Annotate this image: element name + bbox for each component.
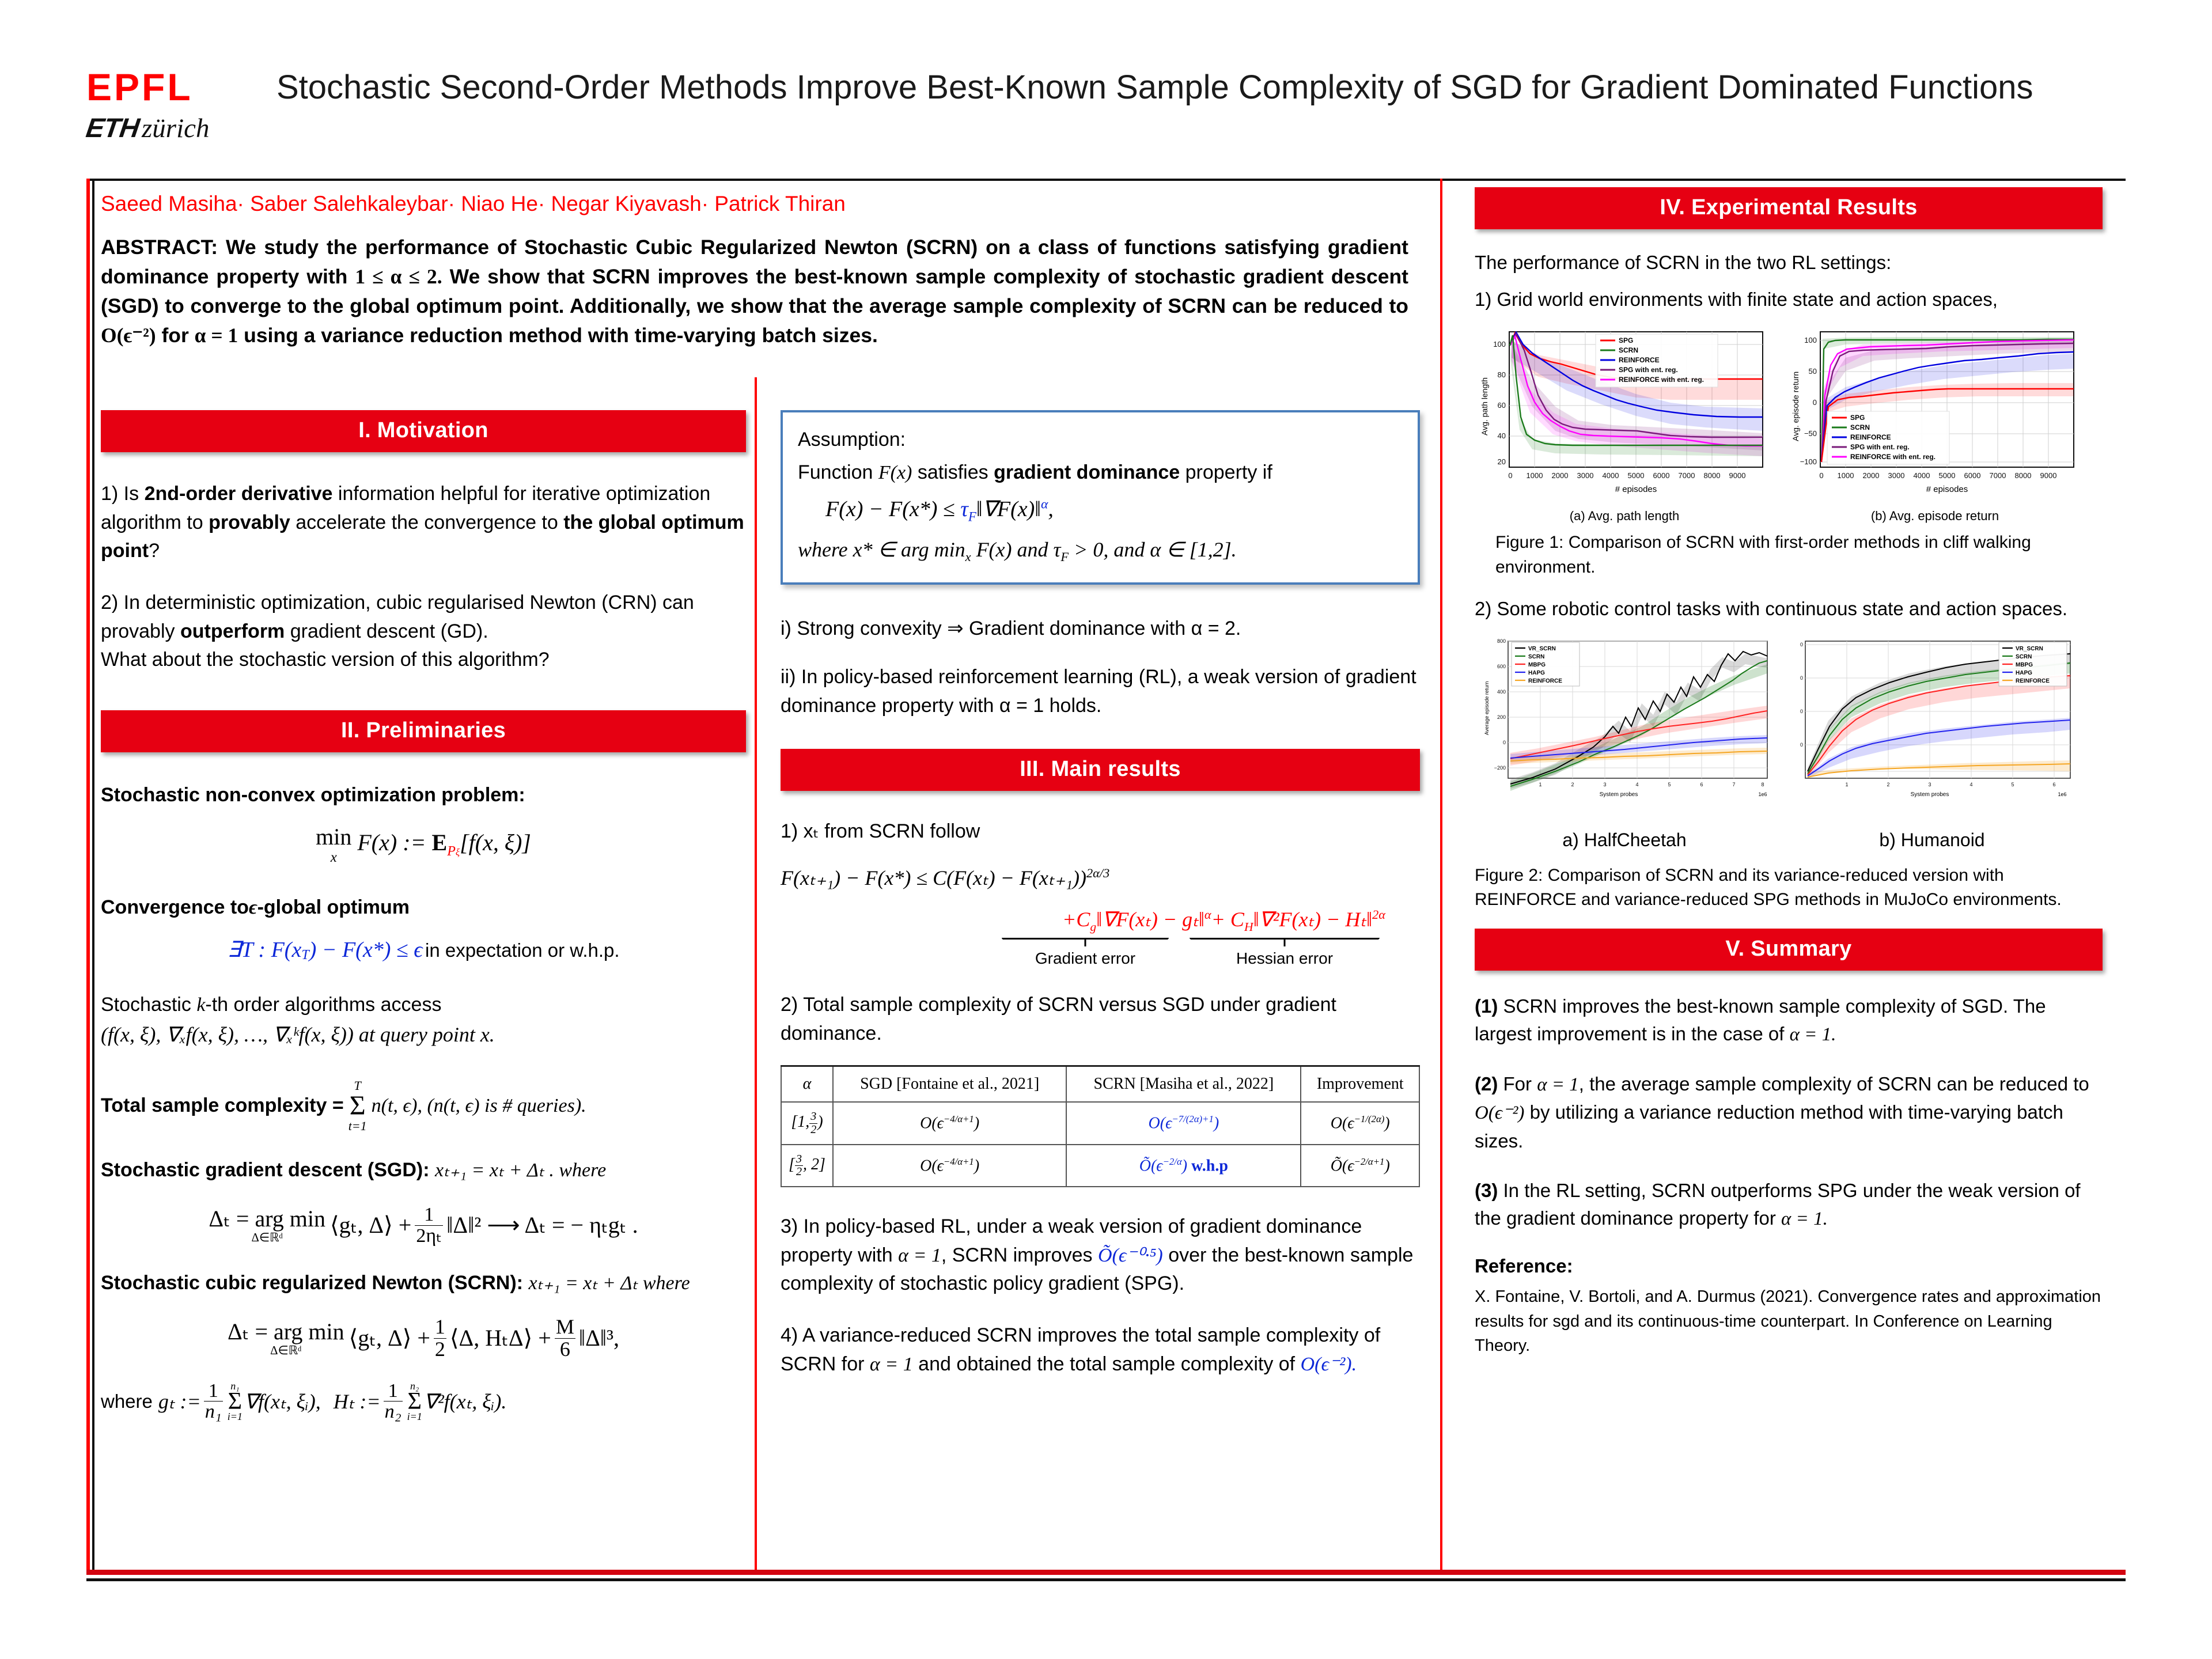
svg-text:REINFORCE: REINFORCE xyxy=(2016,678,2050,684)
cell-improvement-2: Õ(ϵ−2/α+1) xyxy=(1301,1145,1419,1187)
assumption-eq-tau: τ xyxy=(960,497,968,521)
svg-text:0: 0 xyxy=(1813,398,1817,407)
eq-expectation-body: [f(x, ξ)] xyxy=(460,829,531,855)
summary-2-c: by utilizing a variance reduction method… xyxy=(1475,1101,2063,1151)
left-border-rule-2 xyxy=(92,179,94,1573)
main-result-item-2: 2) Total sample complexity of SCRN versu… xyxy=(781,991,1420,1048)
svg-text:3000: 3000 xyxy=(1577,471,1594,480)
assumption-title: Assumption: xyxy=(798,425,1403,454)
err-CH-sub: H xyxy=(1244,920,1253,934)
scrn-frac2-num: M xyxy=(555,1316,575,1339)
scrn-delta-cubic: ‖Δ‖³, xyxy=(579,1325,619,1351)
prelim-scrn-line: Stochastic cubic regularized Newton (SCR… xyxy=(101,1269,746,1298)
scrn2-exp: −2/α xyxy=(1163,1156,1182,1167)
scrn-frac1-den: 2 xyxy=(434,1339,446,1361)
svg-text:MBPG: MBPG xyxy=(1528,662,1546,668)
sgd-frac-denominator: 2ηₜ xyxy=(415,1226,443,1247)
fig2b-plot-area: VR_SCRN SCRN MBPG HAPG REINFORCE 00 xyxy=(1800,641,2070,798)
svg-text:0: 0 xyxy=(1800,742,1803,748)
equation-main-result: F(xₜ₊₁) − F(x*) ≤ C(F(xₜ) − F(xₜ₊₁))2α/3 xyxy=(781,866,1420,890)
svg-text:1: 1 xyxy=(1539,782,1541,787)
svg-text:MBPG: MBPG xyxy=(2016,662,2033,668)
fig1b-legend: SPG SCRN REINFORCE SPG with ent. reg. RE… xyxy=(1827,411,1949,464)
estimator-g-frac-den: n₁ xyxy=(204,1402,223,1422)
estimator-H-sum-bot: i=1 xyxy=(407,1411,422,1423)
svg-text:600: 600 xyxy=(1497,664,1506,669)
svg-text:1000: 1000 xyxy=(1527,471,1543,480)
hessian-error-brace: Hessian error xyxy=(1190,938,1380,968)
zurich-logo: zürich xyxy=(142,113,210,144)
experimental-setting-1: 1) Grid world environments with finite s… xyxy=(1475,286,2103,313)
item3-math: Õ(ϵ⁻⁰·⁵) xyxy=(1098,1245,1163,1266)
eq-conv-part-1: ∃T : F(x xyxy=(227,938,301,962)
equation-min-F: min x F(x) := EPξ[f(x, ξ)] xyxy=(101,824,746,865)
svg-text:9000: 9000 xyxy=(1729,471,1746,480)
svg-text:40: 40 xyxy=(1498,431,1506,440)
imp2-a: Õ(ϵ xyxy=(1331,1157,1354,1175)
assumption-eq-alpha: α xyxy=(1041,497,1048,512)
table-row: [32, 2] O(ϵ−4/α+1) Õ(ϵ−2/α) w.h.p Õ(ϵ−2/… xyxy=(781,1145,1419,1187)
sgd1-exp: −4/α+1 xyxy=(944,1113,974,1124)
motivation-1-mid-2: accelerate the convergence to xyxy=(296,512,558,533)
th-sgd: SGD [Fontaine et al., 2021] xyxy=(833,1066,1066,1103)
section-header-main-results: III. Main results xyxy=(781,749,1420,791)
abstract-text: ABSTRACT: We study the performance of St… xyxy=(101,233,1408,350)
svg-text:HAPG: HAPG xyxy=(2016,670,2032,676)
scrn2-a: Õ(ϵ xyxy=(1139,1157,1163,1175)
summary-3-num: (3) xyxy=(1475,1180,1498,1201)
th-improvement: Improvement xyxy=(1301,1066,1419,1103)
assumption-eq-comma: , xyxy=(1048,497,1054,521)
svg-text:2: 2 xyxy=(1571,782,1574,787)
svg-text:3: 3 xyxy=(1928,782,1931,787)
fig2a-plot-area: VR_SCRN SCRN MBPG HAPG REINFORCE 8006004… xyxy=(1484,638,1767,798)
total-complexity-label: Total sample complexity = xyxy=(101,1092,344,1120)
summary-3-math: α = 1. xyxy=(1781,1209,1828,1229)
scrn-delta-argmin: Δₜ = arg min xyxy=(228,1319,344,1344)
svg-text:5000: 5000 xyxy=(1628,471,1645,480)
svg-text:SCRN: SCRN xyxy=(2016,654,2032,660)
fig2a-x-ticks: 123 456 78 xyxy=(1539,782,1764,787)
fig2a-y-ticks: 800600400 2000−200 xyxy=(1494,638,1506,771)
svg-text:1000: 1000 xyxy=(1838,471,1854,480)
svg-text:4000: 4000 xyxy=(1603,471,1619,480)
figure-1: SPG SCRN REINFORCE SPG with ent. reg. RE… xyxy=(1475,326,2103,524)
svg-text:REINFORCE: REINFORCE xyxy=(1528,678,1562,684)
estimator-H-lhs: Hₜ := xyxy=(334,1389,381,1414)
chart-fig1b: SPG SCRN REINFORCE SPG with ent. reg. RE… xyxy=(1782,326,2088,524)
abstract-math-3: α = 1 xyxy=(195,324,238,347)
estimator-g-sigma-icon: Σ xyxy=(228,1392,243,1411)
assumption-line3-a: where x* ∈ arg min xyxy=(798,538,965,561)
scrn-label: Stochastic cubic regularized Newton (SCR… xyxy=(101,1272,523,1294)
section-header-experimental: IV. Experimental Results xyxy=(1475,187,2103,229)
fig1b-x-ticks: 010002000 300040005000 600070008000 9000 xyxy=(1819,471,2056,480)
section-header-preliminaries: II. Preliminaries xyxy=(101,710,746,752)
fig2b-legend: VR_SCRN SCRN MBPG HAPG REINFORCE xyxy=(1999,642,2067,686)
fig2a-x-scale: 1e6 xyxy=(1758,791,1767,797)
svg-text:REINFORCE: REINFORCE xyxy=(1619,356,1660,364)
motivation-item-2: 2) In deterministic optimization, cubic … xyxy=(101,589,746,675)
eq-conv-part-2: ) − F(x*) ≤ ϵ xyxy=(309,938,423,962)
summary-2-math-1: α = 1 xyxy=(1537,1074,1579,1095)
figure-1-caption: Figure 1: Comparison of SCRN with first-… xyxy=(1495,531,2048,579)
svg-text:REINFORCE with ent. reg.: REINFORCE with ent. reg. xyxy=(1619,376,1704,384)
section-header-summary: V. Summary xyxy=(1475,929,2103,971)
err-grad-exp: α xyxy=(1205,907,1211,922)
fig2b-y-ticks: 00 00 xyxy=(1800,642,1803,748)
svg-text:7000: 7000 xyxy=(1679,471,1695,480)
motivation-1-bold-2: provably xyxy=(209,512,290,533)
scrn1-a: O(ϵ xyxy=(1149,1115,1172,1132)
estimator-g-lhs: gₜ := xyxy=(158,1389,201,1414)
fig2b-xlabel: System probes xyxy=(1911,791,1949,798)
cell-scrn-1: O(ϵ−7/(2α)+1) xyxy=(1066,1102,1301,1144)
fig2b-x-scale: 1e6 xyxy=(2058,791,2066,797)
svg-text:0: 0 xyxy=(1508,471,1512,480)
column-left: I. Motivation 1) Is 2nd-order derivative… xyxy=(101,410,746,1423)
svg-text:4: 4 xyxy=(1635,782,1638,787)
svg-text:7: 7 xyxy=(1732,782,1735,787)
err-hess-norm: ‖∇²F(xₜ) − Hₜ‖ xyxy=(1253,908,1373,931)
svg-text:6000: 6000 xyxy=(1964,471,1981,480)
scrn1-exp: −7/(2α)+1 xyxy=(1172,1113,1213,1124)
estimators-where-label: where xyxy=(101,1391,153,1412)
eq-min-op: min xyxy=(316,824,351,850)
abstract-block: Saeed Masiha· Saber Salehkaleybar· Niao … xyxy=(101,190,1408,351)
sgd-label: Stochastic gradient descent (SGD): xyxy=(101,1159,430,1181)
prelim-sgd-line: Stochastic gradient descent (SGD): xₜ₊₁ … xyxy=(101,1156,746,1185)
item4-alpha: α = 1 xyxy=(870,1354,913,1375)
footer-rule-black xyxy=(86,1578,2126,1581)
equation-scrn-delta: Δₜ = arg min Δ∈ℝᵈ ⟨gₜ, Δ⟩ + 1 2 ⟨Δ, HₜΔ⟩… xyxy=(101,1316,746,1361)
complexity-table: α SGD [Fontaine et al., 2021] SCRN [Masi… xyxy=(781,1065,1420,1187)
fig1b-y-ticks: 10050 0−50−100 xyxy=(1800,336,1817,466)
summary-1-math: α = 1. xyxy=(1790,1024,1836,1045)
cell-alpha-range-2: [32, 2] xyxy=(781,1145,833,1187)
fig2-subcaption-b: b) Humanoid xyxy=(1782,829,2082,851)
estimator-H-frac-num: 1 xyxy=(384,1381,403,1402)
item4-b: and obtained the total sample complexity… xyxy=(918,1353,1295,1375)
eq-min-sub: x xyxy=(316,850,351,865)
prelim-heading-2: Convergence toϵ-global optimum xyxy=(101,893,746,922)
fig1-subcaption-b: (b) Avg. episode return xyxy=(1782,509,2088,524)
eth-logo: ETH xyxy=(84,112,141,143)
assumption-line3-argmin-sub: x xyxy=(965,550,971,564)
motivation-2-bold-1: outperform xyxy=(180,620,285,642)
fig1b-plot-area: SPG SCRN REINFORCE SPG with ent. reg. RE… xyxy=(1791,332,2074,494)
cell-sgd-2: O(ϵ−4/α+1) xyxy=(833,1145,1066,1187)
svg-text:50: 50 xyxy=(1809,367,1817,376)
prelim-heading-2-a: Convergence to xyxy=(101,896,249,918)
abstract-label: ABSTRACT: xyxy=(101,236,218,259)
prelim-total-complexity: Total sample complexity = T Σ t=1 n(t, ϵ… xyxy=(101,1077,746,1136)
svg-text:SCRN: SCRN xyxy=(1619,346,1638,354)
main-result-item-4: 4) A variance-reduced SCRN improves the … xyxy=(781,1321,1420,1378)
motivation-item-1: 1) Is 2nd-order derivative information h… xyxy=(101,480,746,566)
kth-line-1-k: k xyxy=(196,994,205,1016)
logo-group: EPFL ETH zürich xyxy=(86,68,271,144)
table-row: [1,32) O(ϵ−4/α+1) O(ϵ−7/(2α)+1) O(ϵ−1/(2… xyxy=(781,1102,1419,1144)
fig1a-plot-area: SPG SCRN REINFORCE SPG with ent. reg. RE… xyxy=(1480,332,1763,494)
reference-title: Reference: xyxy=(1475,1252,2103,1280)
alpha1-den: 2 xyxy=(809,1124,817,1136)
assumption-equation: F(x) − F(x*) ≤ τF‖∇F(x)‖α, xyxy=(825,493,1403,527)
svg-text:2: 2 xyxy=(1887,782,1889,787)
kth-line-1-a: Stochastic xyxy=(101,994,191,1016)
svg-text:6000: 6000 xyxy=(1653,471,1670,480)
svg-text:8000: 8000 xyxy=(1704,471,1721,480)
fig1a-legend: SPG SCRN REINFORCE SPG with ent. reg. RE… xyxy=(1596,334,1718,387)
col-divider-1 xyxy=(755,377,757,1573)
assumption-line1-F: F(x) xyxy=(878,462,912,483)
assumption-line3-tau-sub: F xyxy=(1060,550,1069,564)
alpha1-num: 3 xyxy=(809,1111,817,1123)
sgd-delta-argmin: Δₜ = arg min xyxy=(209,1206,325,1232)
svg-text:−200: −200 xyxy=(1494,765,1506,771)
poster-header: EPFL ETH zürich Stochastic Second-Order … xyxy=(0,0,2212,173)
err-hess-exp: 2α xyxy=(1372,907,1385,922)
assumption-line-1: Function F(x) satisfies gradient dominan… xyxy=(798,458,1403,487)
alpha2-lo: [ xyxy=(789,1156,795,1173)
svg-text:6: 6 xyxy=(1700,782,1703,787)
kth-line-1-b: -th order algorithms access xyxy=(205,994,441,1016)
svg-text:1: 1 xyxy=(1845,782,1848,787)
cell-sgd-1: O(ϵ−4/α+1) xyxy=(833,1102,1066,1144)
cell-alpha-range-1: [1,32) xyxy=(781,1102,833,1144)
eq-expectation-subsub: ξ xyxy=(456,847,460,858)
item3-b: , SCRN improves xyxy=(941,1244,1093,1266)
prelim-kth-order: Stochastic k-th order algorithms access … xyxy=(101,991,746,1050)
abstract-math-1: 1 ≤ α ≤ 2. xyxy=(355,265,442,288)
svg-text:0: 0 xyxy=(1800,642,1803,647)
summary-3-a: In the RL setting, SCRN outperforms SPG … xyxy=(1475,1180,2081,1229)
svg-text:2000: 2000 xyxy=(1552,471,1569,480)
svg-text:60: 60 xyxy=(1498,401,1506,410)
equation-sgd-delta: Δₜ = arg min Δ∈ℝᵈ ⟨gₜ, Δ⟩ + 1 2ηₜ ‖Δ‖² ⟶… xyxy=(101,1205,746,1246)
svg-text:200: 200 xyxy=(1497,714,1506,720)
abstract-sentence-4: using a variance reduction method with t… xyxy=(244,324,878,347)
summary-2-a: For xyxy=(1503,1073,1532,1094)
svg-text:SPG with ent. reg.: SPG with ent. reg. xyxy=(1619,366,1678,374)
figure-2: VR_SCRN SCRN MBPG HAPG REINFORCE 8006004… xyxy=(1475,634,2103,851)
sgd-frac-numerator: 1 xyxy=(415,1205,443,1226)
sgd-delta-domain: Δ∈ℝᵈ xyxy=(209,1232,325,1245)
table-header-row: α SGD [Fontaine et al., 2021] SCRN [Masi… xyxy=(781,1066,1419,1103)
svg-text:100: 100 xyxy=(1493,340,1506,349)
err-grad-norm: ‖∇F(xₜ) − gₜ‖ xyxy=(1096,908,1205,931)
assumption-eq-norm: ‖∇F(x)‖ xyxy=(976,497,1041,521)
summary-item-1: (1) SCRN improves the best-known sample … xyxy=(1475,993,2103,1048)
svg-text:80: 80 xyxy=(1498,370,1506,379)
svg-text:800: 800 xyxy=(1497,638,1506,644)
left-border-rule xyxy=(86,179,90,1573)
svg-text:SPG: SPG xyxy=(1619,336,1633,344)
fig1a-x-ticks: 010002000 300040005000 600070008000 9000 xyxy=(1508,471,1745,480)
poster-root: EPFL ETH zürich Stochastic Second-Order … xyxy=(0,0,2212,1659)
svg-text:5: 5 xyxy=(2011,782,2014,787)
svg-text:SCRN: SCRN xyxy=(1850,423,1870,431)
svg-text:SCRN: SCRN xyxy=(1528,654,1544,660)
prelim-heading-1: Stochastic non-convex optimization probl… xyxy=(101,781,746,810)
svg-text:0: 0 xyxy=(1800,675,1803,681)
svg-text:3000: 3000 xyxy=(1888,471,1905,480)
eq-expectation-symbol: E xyxy=(432,829,448,855)
svg-text:0: 0 xyxy=(1819,471,1823,480)
fig2a-xlabel: System probes xyxy=(1600,791,1638,798)
author-list: Saeed Masiha· Saber Salehkaleybar· Niao … xyxy=(101,190,1408,218)
column-middle: Assumption: Function F(x) satisfies grad… xyxy=(781,410,1420,1378)
col-divider-2 xyxy=(1440,179,1442,1573)
motivation-1-end: ? xyxy=(149,540,160,562)
equation-convergence: ∃T : F(xT) − F(x*) ≤ ϵ in expectation or… xyxy=(101,937,746,963)
svg-text:4000: 4000 xyxy=(1914,471,1930,480)
sgd2-exp: −4/α+1 xyxy=(944,1156,974,1167)
scrn1-end: ) xyxy=(1214,1115,1219,1132)
svg-text:VR_SCRN: VR_SCRN xyxy=(2016,646,2043,652)
imp2-end: ) xyxy=(1384,1157,1389,1175)
header-divider xyxy=(86,179,2126,181)
experimental-setting-2: 2) Some robotic control tasks with conti… xyxy=(1475,595,2103,623)
estimator-g-body: ∇f(xₜ, ξᵢ), xyxy=(244,1389,321,1414)
assumption-eq-lhs: F(x) − F(x*) ≤ xyxy=(825,497,955,521)
fig1a-xlabel: # episodes xyxy=(1615,484,1657,494)
imp1-a: O(ϵ xyxy=(1331,1115,1354,1132)
assumption-line3-b: F(x) and τ xyxy=(976,538,1061,561)
estimator-g-sum-bot: i=1 xyxy=(228,1411,243,1423)
svg-text:8000: 8000 xyxy=(2015,471,2032,480)
svg-text:REINFORCE: REINFORCE xyxy=(1850,433,1891,441)
cell-improvement-1: O(ϵ−1/(2α)) xyxy=(1301,1102,1419,1144)
estimator-g-frac-num: 1 xyxy=(204,1381,223,1402)
svg-text:0: 0 xyxy=(1800,709,1803,714)
assumption-line1-b: satisfies xyxy=(918,461,988,483)
svg-text:−50: −50 xyxy=(1804,429,1817,438)
alpha2-hi: , 2] xyxy=(803,1156,825,1173)
item4-math: O(ϵ⁻²). xyxy=(1301,1354,1357,1375)
figure-2-caption: Figure 2: Comparison of SCRN and its var… xyxy=(1475,863,2103,912)
hessian-error-label: Hessian error xyxy=(1190,949,1380,968)
chart-fig2b: VR_SCRN SCRN MBPG HAPG REINFORCE 00 xyxy=(1782,634,2082,851)
sgd1-end: ) xyxy=(974,1115,979,1132)
fig1-subcaption-a: (a) Avg. path length xyxy=(1475,509,1774,524)
svg-text:20: 20 xyxy=(1498,457,1506,466)
scrn-update-eq: xₜ₊₁ = xₜ + Δₜ where xyxy=(528,1272,690,1294)
fig1a-y-ticks: 10080 604020 xyxy=(1493,340,1506,466)
alpha1-lo: [1, xyxy=(791,1113,809,1131)
brace-icon-hessian xyxy=(1190,938,1380,948)
gradient-error-label: Gradient error xyxy=(1002,949,1169,968)
estimator-H-frac-den: n₂ xyxy=(384,1402,403,1422)
svg-text:SPG with ent. reg.: SPG with ent. reg. xyxy=(1850,443,1910,451)
estimator-H-body: ∇²f(xₜ, ξᵢ). xyxy=(424,1389,507,1414)
chart-fig2b-svg: VR_SCRN SCRN MBPG HAPG REINFORCE 00 xyxy=(1782,634,2082,807)
equation-gradient-hessian-estimators: where gₜ := 1 n₁ n₁ Σ i=1 ∇f(xₜ, ξᵢ), Hₜ… xyxy=(101,1380,746,1423)
th-scrn: SCRN [Masiha et al., 2022] xyxy=(1066,1066,1301,1103)
err-CH: + C xyxy=(1211,908,1244,931)
svg-text:400: 400 xyxy=(1497,689,1506,695)
epfl-logo: EPFL xyxy=(86,68,271,106)
svg-text:4: 4 xyxy=(1969,782,1972,787)
scrn-delta-inner: ⟨gₜ, Δ⟩ + xyxy=(349,1325,430,1351)
assumption-box: Assumption: Function F(x) satisfies grad… xyxy=(781,410,1420,585)
summary-2-b: , the average sample complexity of SCRN … xyxy=(1579,1073,2089,1094)
abstract-sentence-3: for xyxy=(161,324,188,347)
summary-1-num: (1) xyxy=(1475,995,1498,1017)
total-complexity-rest: n(t, ϵ), (n(t, ϵ) is # queries). xyxy=(372,1092,586,1120)
fig1a-ylabel: Avg. path length xyxy=(1480,377,1489,435)
equation-error-terms: +Cg‖∇F(xₜ) − gₜ‖α+ CH‖∇²F(xₜ) − Hₜ‖2α xyxy=(781,907,1420,934)
scrn-frac2-den: 6 xyxy=(555,1339,575,1361)
imp2-exp: −2/α+1 xyxy=(1354,1156,1385,1167)
sum-sigma-icon: Σ xyxy=(349,1095,367,1117)
sgd-delta-tail: ‖Δ‖² ⟶ Δₜ = − ηₜgₜ . xyxy=(446,1213,638,1238)
item3-alpha: α = 1 xyxy=(898,1245,941,1266)
svg-text:SPG: SPG xyxy=(1850,414,1865,422)
error-braces: Gradient error Hessian error xyxy=(781,938,1420,968)
summary-2-num: (2) xyxy=(1475,1073,1498,1094)
alpha2-den: 2 xyxy=(795,1166,803,1178)
kth-line-2: (f(x, ξ), ∇ₓf(x, ξ), …, ∇ₓᵏf(x, ξ)) at q… xyxy=(101,1023,495,1046)
th-alpha: α xyxy=(781,1066,833,1103)
svg-text:HAPG: HAPG xyxy=(1528,670,1545,676)
eq-conv-T: T xyxy=(301,948,309,963)
motivation-1-bold-1: 2nd-order derivative xyxy=(145,483,333,505)
chart-fig2a: VR_SCRN SCRN MBPG HAPG REINFORCE 8006004… xyxy=(1475,634,1774,851)
svg-text:8: 8 xyxy=(1761,782,1764,787)
svg-text:0: 0 xyxy=(1503,740,1506,745)
reference-text: X. Fontaine, V. Bortoli, and A. Durmus (… xyxy=(1475,1285,2103,1358)
summary-item-3: (3) In the RL setting, SCRN outperforms … xyxy=(1475,1177,2103,1233)
sgd2-a: O(ϵ xyxy=(920,1157,944,1175)
estimator-H-sigma-icon: Σ xyxy=(407,1392,422,1411)
err-Cg-sub: g xyxy=(1090,920,1096,934)
summary-1-text: SCRN improves the best-known sample comp… xyxy=(1475,995,2046,1044)
assumption-line1-a: Function xyxy=(798,461,873,483)
scrn-frac1-num: 1 xyxy=(434,1316,446,1339)
eq-min-rhs: F(x) := xyxy=(357,829,426,855)
chart-fig1b-svg: SPG SCRN REINFORCE SPG with ent. reg. RE… xyxy=(1782,326,2088,505)
brace-icon-gradient xyxy=(1002,938,1169,948)
svg-text:100: 100 xyxy=(1804,336,1817,344)
summary-2-math-2: O(ϵ⁻²) xyxy=(1475,1103,1524,1123)
experimental-intro: The performance of SCRN in the two RL se… xyxy=(1475,249,2103,276)
sgd-delta-inner: ⟨gₜ, Δ⟩ + xyxy=(330,1213,411,1238)
prelim-heading-2-eps: ϵ xyxy=(249,897,257,918)
motivation-2-end: What about the stochastic version of thi… xyxy=(101,649,550,671)
main-eq1-body: F(xₜ₊₁) − F(x*) ≤ C(F(xₜ) − F(xₜ₊₁)) xyxy=(781,866,1086,889)
fig1b-xlabel: # episodes xyxy=(1926,484,1968,494)
assumption-line-3: where x* ∈ arg minx F(x) and τF > 0, and… xyxy=(798,534,1403,567)
main-eq1-exponent: 2α/3 xyxy=(1086,866,1109,880)
svg-text:VR_SCRN: VR_SCRN xyxy=(1528,646,1556,652)
assumption-line3-c: > 0, and α ∈ [1,2]. xyxy=(1074,538,1237,561)
eq-expectation-sub: P xyxy=(447,844,456,859)
fig2b-x-ticks: 123 456 xyxy=(1845,782,2055,787)
sum-lower-limit: t=1 xyxy=(349,1117,367,1135)
svg-text:5: 5 xyxy=(1668,782,1671,787)
imp1-exp: −1/(2α) xyxy=(1354,1113,1385,1124)
abstract-math-2: O(ϵ⁻²) xyxy=(101,324,156,347)
prelim-heading-2-b: -global optimum xyxy=(257,896,410,918)
fig2-subcaption-a: a) HalfCheetah xyxy=(1475,829,1774,851)
motivation-2-mid: gradient descent (GD). xyxy=(290,620,488,642)
err-Cg: +C xyxy=(1062,908,1090,931)
footer-rule-red xyxy=(86,1570,2126,1575)
scrn-delta-quad: ⟨Δ, HₜΔ⟩ + xyxy=(450,1325,551,1351)
chart-fig2a-svg: VR_SCRN SCRN MBPG HAPG REINFORCE 8006004… xyxy=(1475,634,1774,807)
sgd1-a: O(ϵ xyxy=(920,1115,944,1132)
